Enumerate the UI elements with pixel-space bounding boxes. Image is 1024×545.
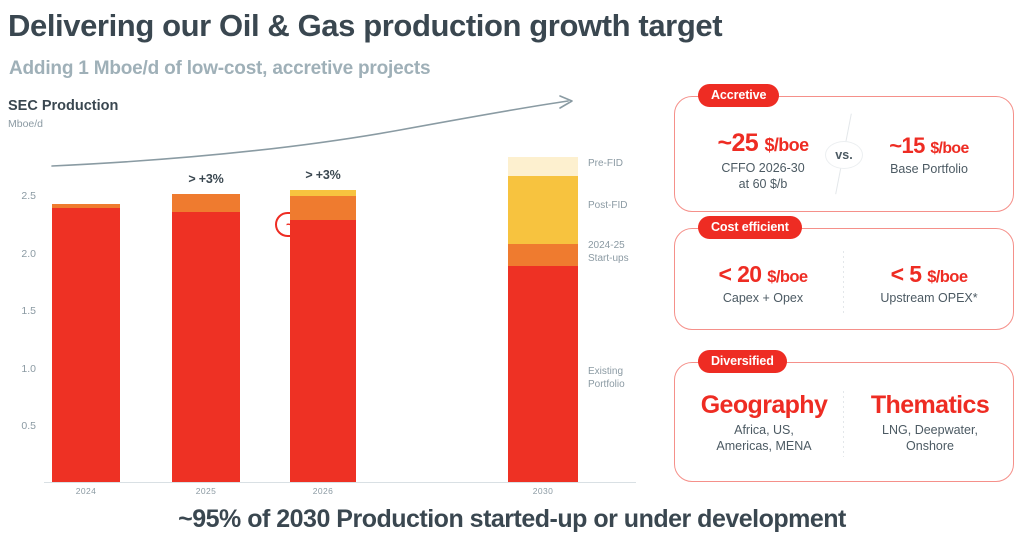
bar-2025-segment-startups xyxy=(172,194,240,212)
page-subtitle: Adding 1 Mboe/d of low-cost, accretive p… xyxy=(9,58,430,80)
y-tick-1-0: 1.0 xyxy=(0,363,36,375)
plot-area: 2.5 2.0 1.5 1.0 0.5 ~+3%/y xyxy=(0,88,660,503)
bar-2030-segment-prefid xyxy=(508,157,578,176)
x-axis-line xyxy=(44,482,636,483)
growth-label-2025: > +3% xyxy=(172,172,240,186)
y-tick-2-0: 2.0 xyxy=(0,248,36,260)
legend-item-post-fid: Post-FID xyxy=(588,200,627,213)
card-cost-right-caption: Upstream OPEX* xyxy=(851,290,1007,306)
card-cost-efficient[interactable]: Cost efficient < 20 $/boe Capex + Opex <… xyxy=(674,228,1014,330)
x-tick-2025: 2025 xyxy=(172,486,240,496)
card-accretive-right-caption: Base Portfolio xyxy=(851,161,1007,177)
bar-2030-segment-startups xyxy=(508,244,578,266)
legend-item-start-ups: 2024-25 Start-ups xyxy=(588,240,629,265)
legend-item-pre-fid: Pre-FID xyxy=(588,158,623,171)
legend-item-existing: Existing Portfolio xyxy=(588,366,625,391)
y-tick-1-5: 1.5 xyxy=(0,305,36,317)
bar-2030-segment-existing xyxy=(508,266,578,482)
card-diversified-right-caption: LNG, Deepwater, Onshore xyxy=(851,422,1009,454)
bar-2025-segment-existing xyxy=(172,212,240,482)
bar-2030[interactable] xyxy=(508,157,578,482)
card-cost-left-value: < 20 $/boe xyxy=(683,261,843,288)
chart-panel: SEC Production Mboe/d 2.5 2.0 1.5 1.0 0.… xyxy=(0,88,660,503)
slide: Delivering our Oil & Gas production grow… xyxy=(0,0,1024,545)
card-diversified-divider xyxy=(843,391,844,457)
bar-2025[interactable] xyxy=(172,194,240,482)
x-tick-2024: 2024 xyxy=(52,486,120,496)
bar-2030-segment-postfid xyxy=(508,176,578,244)
card-cost-right-value: < 5 $/boe xyxy=(851,261,1007,288)
bar-2024-segment-existing xyxy=(52,208,120,482)
x-tick-2030: 2030 xyxy=(508,486,578,496)
page-title: Delivering our Oil & Gas production grow… xyxy=(8,8,722,44)
bar-2026-segment-existing xyxy=(290,220,356,482)
card-cost-left-caption: Capex + Opex xyxy=(683,290,843,306)
card-cost-divider xyxy=(843,251,844,313)
growth-label-2026: > +3% xyxy=(289,168,357,182)
x-tick-2026: 2026 xyxy=(290,486,356,496)
card-diversified-right-value: Thematics xyxy=(851,391,1009,420)
bar-2026-segment-startups xyxy=(290,196,356,220)
footer-caption: ~95% of 2030 Production started-up or un… xyxy=(0,505,1024,534)
card-diversified-left-value: Geography xyxy=(683,391,845,420)
bar-2024[interactable] xyxy=(52,204,120,482)
bar-2026[interactable] xyxy=(290,190,356,482)
y-tick-2-5: 2.5 xyxy=(0,190,36,202)
card-diversified-left-caption: Africa, US, Americas, MENA xyxy=(683,422,845,454)
y-tick-0-5: 0.5 xyxy=(0,420,36,432)
card-accretive-right-value: ~15 $/boe xyxy=(851,133,1007,159)
card-accretive[interactable]: Accretive ~25 $/boe CFFO 2026-30 at 60 $… xyxy=(674,96,1014,212)
card-diversified[interactable]: Diversified Geography Africa, US, Americ… xyxy=(674,362,1014,482)
